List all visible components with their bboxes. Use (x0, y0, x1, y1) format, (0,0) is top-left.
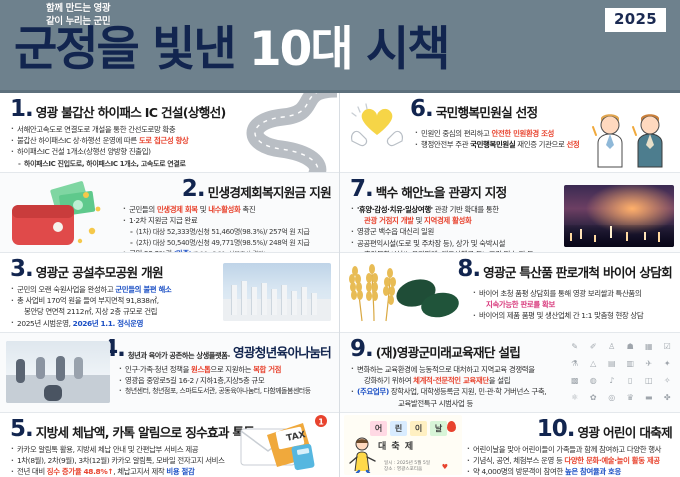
bullet-highlight: (주요업무) (357, 387, 389, 396)
bullet-sub: 하이패스IC 진입도로, 하이패스IC 1개소, 고속도로 연결로 (10, 159, 331, 169)
policy-item-7: 7 백수 해안노을 관광지 지정 '휴양·감성·치유·일상여행' 관광 기반 확… (340, 173, 680, 253)
bullet: '휴양·감성·치유·일상여행' 관광 기반 확대를 통한 (350, 205, 672, 216)
pencil-icon: ✐ (590, 342, 597, 351)
bullet-highlight: 지속가능한 판로를 확보 (486, 300, 555, 309)
bullet-text: 약 4,000명의 방문객이 참여한 (473, 467, 565, 476)
bullet-highlight: 2026년 1.1. 정식운영 (73, 319, 143, 328)
bullet-highlight: 다양한 문화·예술·놀이 활동 제공 (564, 456, 659, 465)
bullet-text: 군민의 오랜 숙원사업을 완성하고 (17, 285, 115, 294)
bullet-cont: 봉안당 연면적 2112㎡, 지상 2층 규모로 건립 (10, 307, 331, 318)
policy-title-4: 영광청년육아나눔터 (233, 347, 331, 361)
bullet-cont: 교육발전특구 시범사업 등 (350, 399, 672, 410)
bullet-highlight: '휴양·감성·치유·일상여행' (357, 205, 433, 214)
policy-title-7: 백수 해안노을 관광지 지정 (376, 187, 507, 201)
bullet-highlight: 안전한 민원환경 조성 (492, 129, 555, 138)
policy-item-6: 6 국민행복민원실 선정 민원인 중심의 편리하고 안전한 민원환경 조성 행정… (340, 93, 680, 173)
bullet: 기념식, 공연, 체험부스 운영 등 다양한 문화·예술·놀이 활동 제공 (466, 456, 672, 467)
bullet: 군민들의 민생경제 회복 및 내수활성화 촉진 (122, 205, 331, 216)
bullet: 변화하는 교육환경에 능동적으로 대처하고 지역교육 경쟁력을 (350, 365, 672, 376)
left-column: 1 영광 불갑산 하이패스 IC 건설(상행선) 서해안고속도로 연결도로 개설… (0, 93, 340, 477)
policy-title-9: (재)영광군미래교육재단 설립 (376, 347, 520, 361)
policy-title-3: 영광군 공설추모공원 개원 (36, 267, 163, 281)
bullet: 서해안고속도로 연결도로 개설을 통한 간선도로망 확충 (10, 125, 331, 136)
festival-chip: 날 (430, 421, 447, 436)
bullet: (주요업무) 장학사업, 대학생등록금 지원, 민·관·학 거버넌스 구축, (350, 387, 672, 398)
cap-icon: ☗ (627, 342, 634, 351)
book-icon: ✎ (571, 342, 578, 351)
policy-number-10: 10 (537, 419, 575, 441)
bullet-highlight: 도로 접근성 향상 (139, 136, 189, 145)
policy-bullets-2: 군민들의 민생경제 회복 및 내수활성화 촉진 1·2차 지원금 지급 완료 (… (122, 205, 331, 253)
bullet-text2: 관광 기반 확대를 통한 (433, 205, 499, 214)
bullet: 총 사업비 170억 원을 들여 부지면적 91,838㎡, (10, 296, 331, 307)
bullet-text: 불갑산 하이패스IC 상·하행선 운영에 따른 (17, 136, 139, 145)
bullet: 인구·가족·청년 정책을 원스톱으로 지원하는 복합 거점 (118, 365, 331, 376)
policy-item-9: ✎ ✐ ♙ ☗ ▦ ☑ ⚗ △ ▤ ▥ ✈ ✦ ▩ ◍ ♪ ▯ ◫ (340, 333, 680, 413)
policy-bullets-9: 변화하는 교육환경에 능동적으로 대처하고 지역교육 경쟁력을 강화하기 위하여… (350, 365, 672, 409)
people-icon: ♙ (608, 342, 615, 351)
title-part3: 시책 (366, 22, 448, 77)
bullet-cont: 지속가능한 판로를 확보 (472, 300, 672, 311)
bullet-text2: , 체납고지서 제작 (113, 467, 166, 476)
policy-title-6: 국민행복민원실 선정 (436, 107, 538, 121)
policy-bullets-5: 카카오 알림톡 활용, 지방세 체납 안내 및 간편납부 서비스 제공 1차(8… (10, 445, 331, 477)
bullet-text2: 으로 지원하는 (210, 365, 253, 374)
bullet-text: 행정안전부 주관 (421, 140, 470, 149)
svg-text:1: 1 (318, 418, 324, 427)
bullet: 1차(8월), 2차(9월), 3차(12월) 카카오 알림톡, 모바일 전자고… (10, 456, 331, 467)
bullet-text2: 장학사업, 대학생등록금 지원, 민·관·학 거버넌스 구축, (389, 387, 546, 396)
festival-poster-art: 어 린 이 날 대 축 제 ♥ 일시 : 2025년 5월 (344, 415, 462, 475)
bullet-text2: 및 (198, 205, 208, 214)
balloon-icon (447, 421, 456, 432)
bullet-highlight2: 비용 절감 (166, 467, 194, 476)
bullet: 바이어의 제품 품평 및 생산업체 간 1:1 맞춤형 현장 상담 (472, 311, 672, 322)
policy-number-1: 1 (10, 99, 33, 121)
bullet: 1·2차 지원금 지급 완료 (122, 216, 331, 227)
check-icon: ☑ (664, 342, 671, 351)
bullet-text: 기념식, 공연, 체험부스 운영 등 (473, 456, 564, 465)
bullet: 하이패스IC 건설 1개소(상행선 양방향 진출입) (10, 147, 331, 158)
bullet-highlight2: 지역경제 활성화 (424, 216, 471, 225)
wallet-cash-icon (6, 179, 114, 251)
policy-title-8: 영광군 특산품 판로개척 바이어 상담회 (483, 267, 672, 281)
festival-chip: 린 (390, 421, 407, 436)
chart-icon: ▦ (645, 342, 653, 351)
policy-item-1: 1 영광 불갑산 하이패스 IC 건설(상행선) 서해안고속도로 연결도로 개설… (0, 93, 339, 173)
bullet-text: 전년 대비 (17, 467, 47, 476)
year-badge: 2025 (605, 8, 666, 32)
policy-number-5: 5 (10, 419, 33, 441)
bullet: 전년 대비 징수 증가율 48.8%↑, 체납고지서 제작 비용 절감 (10, 467, 331, 477)
policy-item-3: 3 영광군 공설추모공원 개원 군민의 오랜 숙원사업을 완성하고 군민들의 불… (0, 253, 339, 333)
title-part2: 10대 (249, 22, 352, 77)
festival-chip: 이 (410, 421, 427, 436)
festival-subtitle: 대 축 제 (378, 439, 414, 452)
barley-leaves-icon (344, 259, 464, 325)
bullet: 약 4,000명의 방문객이 참여한 높은 참여율과 호응 (466, 467, 672, 477)
policy-title-5: 지방세 체납액, 카톡 알림으로 징수효과 톡톡 (36, 427, 254, 441)
bullet-text: 강화하기 위하여 (364, 376, 413, 385)
policy-number-2: 2 (182, 179, 205, 201)
bullet-highlight: 높은 참여율과 호응 (565, 467, 621, 476)
bullet: 행정안전부 주관 국민행복민원실 재인증 기관으로 선정 (414, 140, 672, 151)
policy-kicker-4: 청년과 육아가 공존하는 상생플랫폼- (128, 352, 230, 361)
policy-bullets-1: 서해안고속도로 연결도로 개설을 통한 간선도로망 확충 불갑산 하이패스IC … (10, 125, 331, 169)
policy-number-6: 6 (410, 99, 433, 121)
bullet-highlight: 체계적·전문적인 교육재단 (413, 376, 489, 385)
policy-item-4: 4 청년과 육아가 공존하는 상생플랫폼- 영광청년육아나눔터 인구·가족·청년… (0, 333, 339, 413)
policy-number-7: 7 (350, 179, 373, 201)
content-columns: 1 영광 불갑산 하이패스 IC 건설(상행선) 서해안고속도로 연결도로 개설… (0, 93, 680, 477)
policy-number-3: 3 (10, 259, 33, 281)
bullet-text: 군민들의 (129, 205, 157, 214)
heart-icon: ♥ (442, 463, 448, 471)
title-part1: 군정을 빛낸 (14, 22, 235, 77)
bullet: 어린이날을 맞아 어린이들이 가족들과 함께 참여하고 다양한 행사 (466, 445, 672, 456)
festival-footnote: 일시 : 2025년 5월 5일장소 : 영광스포티움 (384, 461, 430, 473)
bullet-highlight2: 복합 거점 (253, 365, 281, 374)
policy-title-1: 영광 불갑산 하이패스 IC 건설(상행선) (36, 107, 226, 121)
child-figure-icon (348, 437, 378, 473)
bullet-highlight: 군민들의 불편 해소 (115, 285, 171, 294)
policy-bullets-10: 어린이날을 맞아 어린이들이 가족들과 함께 참여하고 다양한 행사 기념식, … (466, 445, 672, 477)
bullet: 공공편익시설(도로 및 주차장 등), 상가 및 숙박시설 (350, 239, 672, 250)
policy-bullets-4: 인구·가족·청년 정책을 원스톱으로 지원하는 복합 거점 영광읍 중앙로5길 … (118, 365, 331, 397)
policy-bullets-7: '휴양·감성·치유·일상여행' 관광 기반 확대를 통한 관광 거점지 개발 및… (350, 205, 672, 253)
policy-title-2: 민생경제회복지원금 지원 (208, 187, 331, 201)
festival-chip: 어 (370, 421, 387, 436)
policy-title-10: 영광 어린이 대축제 (578, 427, 672, 441)
bullet-sub: (2차) 대상 50,540명/신청 49,771명(98.5%)/ 248억 … (122, 238, 331, 248)
poster-root: 함께 만드는 영광 같이 누리는 군민 군정을 빛낸 10대 시책 2025 1 (0, 0, 680, 477)
bullet-text: 민원인 중심의 편리하고 (421, 129, 492, 138)
bullet-text2: 재인증 기관으로 (515, 140, 566, 149)
bullet-cont: 관광 거점지 개발 및 지역경제 활성화 (350, 216, 672, 227)
poster-header: 함께 만드는 영광 같이 누리는 군민 군정을 빛낸 10대 시책 2025 (0, 0, 680, 93)
policy-bullets-6: 민원인 중심의 편리하고 안전한 민원환경 조성 행정안전부 주관 국민행복민원… (414, 129, 672, 151)
policy-item-10: 어 린 이 날 대 축 제 ♥ 일시 : 2025년 5월 (340, 413, 680, 477)
bullet-cont: 강화하기 위하여 체계적·전문적인 교육재단을 설립 (350, 376, 672, 387)
bullet-text3: 촉진 (240, 205, 255, 214)
bullet-highlight: 원스톱 (191, 365, 210, 374)
bullet: 청년센터, 청년점포, 스마트도서관, 공동육아나눔터, 다함께돌봄센터등 (118, 387, 331, 397)
heart-hands-icon (346, 101, 408, 161)
right-column: 6 국민행복민원실 선정 민원인 중심의 편리하고 안전한 민원환경 조성 행정… (340, 93, 680, 477)
policy-item-2: 2 민생경제회복지원금 지원 군민들의 민생경제 회복 및 내수활성화 촉진 1… (0, 173, 339, 253)
bullet: 2025년 시범운영, 2026년 1.1. 정식운영 (10, 319, 331, 330)
bullet-highlight: 국민행복민원실 (470, 140, 515, 149)
bullet-highlight2: 선정 (566, 140, 579, 149)
bullet: 민원인 중심의 편리하고 안전한 민원환경 조성 (414, 129, 672, 140)
bullet: 불갑산 하이패스IC 상·하행선 운영에 따른 도로 접근성 향상 (10, 136, 331, 147)
bullet: 군민의 오랜 숙원사업을 완성하고 군민들의 불편 해소 (10, 285, 331, 296)
page-title: 군정을 빛낸 10대 시책 (14, 26, 448, 73)
bullet-highlight: 징수 증가율 48.8%↑ (47, 467, 113, 476)
bullet-text: 2025년 시범운영, (17, 319, 73, 328)
bullet: 영광읍 중앙로5길 16-2 / 지하1층,지상5층 규모 (118, 376, 331, 387)
bullet-highlight: 관광 거점지 개발 (364, 216, 414, 225)
bullet-highlight: 민생경제 회복 (157, 205, 198, 214)
policy-number-9: 9 (350, 339, 373, 361)
policy-bullets-3: 군민의 오랜 숙원사업을 완성하고 군민들의 불편 해소 총 사업비 170억 … (10, 285, 331, 329)
bullet-text2: 을 설립 (489, 376, 510, 385)
bullet-sub: (1차) 대상 52,333명/신청 51,460명(98.3%)/ 257억 … (122, 227, 331, 237)
bullet: 바이어 초청 품평 상담회를 통해 영광 보리쌀과 특산품의 (472, 289, 672, 300)
bullet-highlight2: 내수활성화 (208, 205, 240, 214)
policy-bullets-8: 바이어 초청 품평 상담회를 통해 영광 보리쌀과 특산품의 지속가능한 판로를… (472, 289, 672, 322)
bullet: 카카오 알림톡 활용, 지방세 체납 안내 및 간편납부 서비스 제공 (10, 445, 331, 456)
bullet-text2: 및 (414, 216, 424, 225)
bullet: 영광군 백수읍 대신리 일원 (350, 227, 672, 238)
policy-item-8: 8 영광군 특산품 판로개척 바이어 상담회 바이어 초청 품평 상담회를 통해… (340, 253, 680, 333)
bullet-text: 인구·가족·청년 정책을 (125, 365, 191, 374)
policy-item-5: TAX 1 5 지방세 체납액, 카톡 알림으로 징수효과 톡톡 카카오 알림톡… (0, 413, 339, 477)
children-photo (6, 341, 110, 403)
